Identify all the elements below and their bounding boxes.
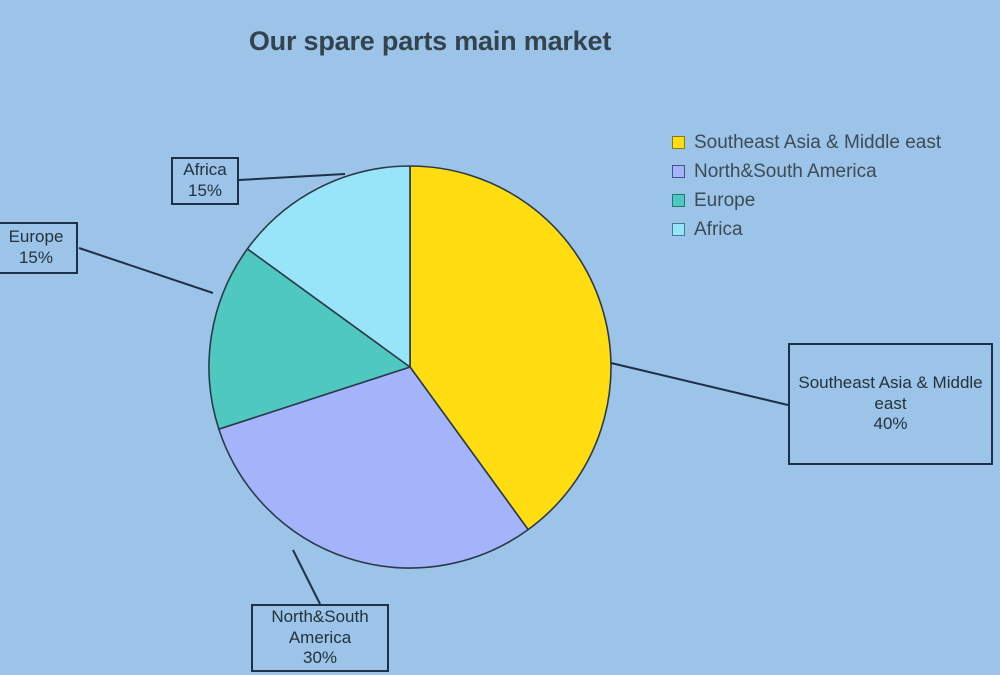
callout-africa[interactable]: Africa15% [171, 157, 239, 205]
legend-item-africa[interactable]: Africa [672, 215, 992, 244]
callout-africa-label: Africa [183, 160, 226, 179]
legend-swatch-icon [672, 194, 685, 207]
callout-africa-text: Africa15% [179, 160, 230, 201]
legend-item-europe[interactable]: Europe [672, 186, 992, 215]
legend-label: North&South America [694, 161, 877, 183]
callout-sea-text: Southeast Asia & Middle east40% [790, 373, 991, 435]
legend-label: Southeast Asia & Middle east [694, 132, 941, 154]
legend-item-southeast-asia[interactable]: Southeast Asia & Middle east [672, 128, 992, 157]
callout-americas-label: North&South America [271, 607, 368, 647]
callout-americas-text: North&South America30% [253, 607, 387, 669]
callout-sea-label: Southeast Asia & Middle east [798, 373, 982, 413]
legend-label: Africa [694, 219, 743, 241]
pie-chart-svg [204, 161, 616, 573]
callout-europe[interactable]: Europe15% [0, 222, 78, 274]
legend-swatch-icon [672, 136, 685, 149]
callout-europe-value: 15% [19, 248, 53, 267]
leader-line-southeast-asia [611, 363, 788, 405]
callout-africa-value: 15% [188, 181, 222, 200]
callout-europe-label: Europe [9, 227, 64, 246]
callout-americas-value: 30% [303, 648, 337, 667]
legend-swatch-icon [672, 223, 685, 236]
leader-line-europe [79, 248, 213, 293]
legend-label: Europe [694, 190, 755, 212]
callout-southeast-asia[interactable]: Southeast Asia & Middle east40% [788, 343, 993, 465]
callout-europe-text: Europe15% [5, 227, 68, 268]
callout-north-south-america[interactable]: North&South America30% [251, 604, 389, 672]
pie-chart[interactable] [204, 161, 616, 573]
callout-sea-value: 40% [873, 414, 907, 433]
legend-item-north-south-america[interactable]: North&South America [672, 157, 992, 186]
chart-legend: Southeast Asia & Middle east North&South… [672, 128, 992, 244]
legend-swatch-icon [672, 165, 685, 178]
page-title: Our spare parts main market [0, 26, 860, 57]
slide-canvas: Our spare parts main market Africa15% Eu… [0, 0, 1000, 675]
